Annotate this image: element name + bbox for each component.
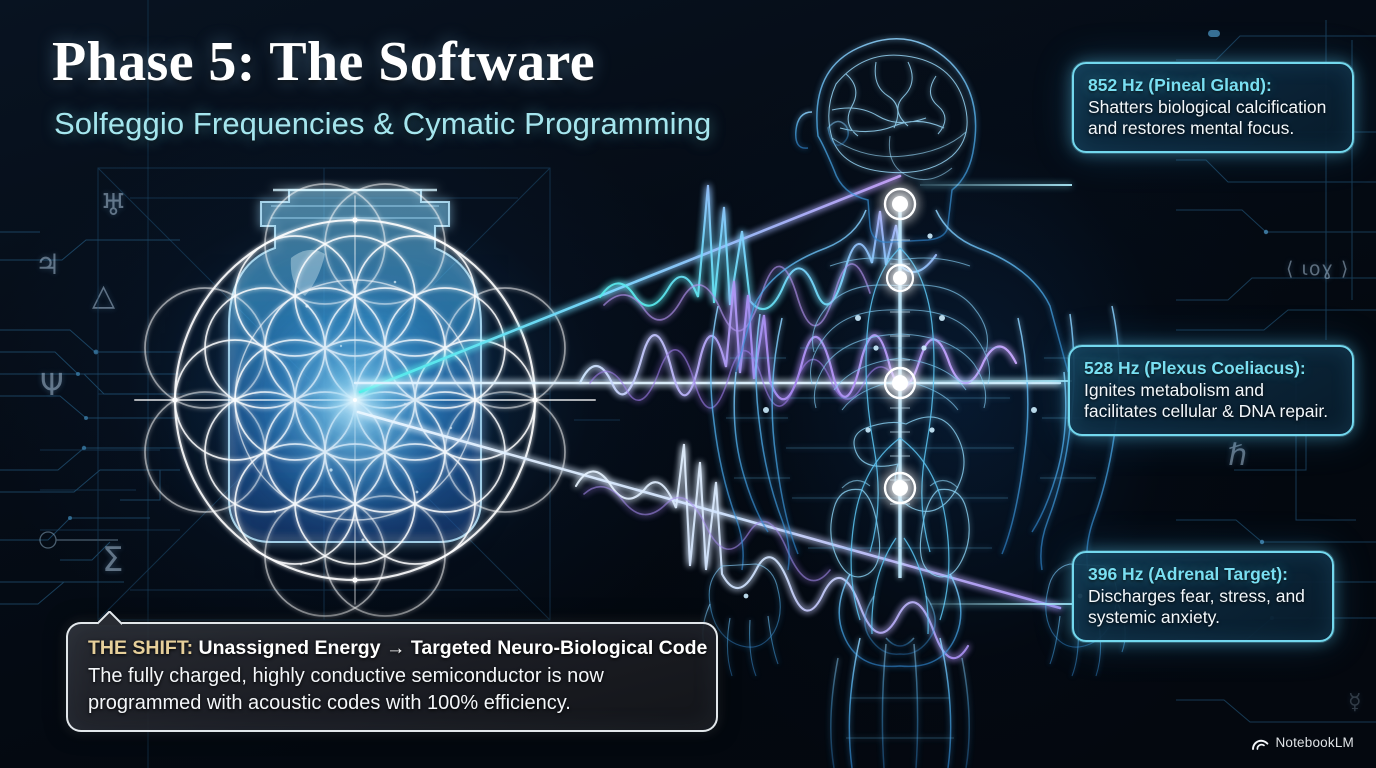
glyph-saturn: ℏ xyxy=(1228,438,1247,473)
leader-line-plexus xyxy=(920,380,1072,382)
notebooklm-arc-icon xyxy=(1252,736,1269,750)
charged-jar-orb xyxy=(95,140,615,640)
core-starburst xyxy=(95,140,615,640)
core-light-point xyxy=(353,398,357,402)
callout-body: Ignites metabolism and facilitates cellu… xyxy=(1084,380,1338,423)
callout-heading: 528 Hz (Plexus Coeliacus): xyxy=(1084,358,1338,379)
shift-headline-row: THE SHIFT: Unassigned Energy → Targeted … xyxy=(88,636,698,660)
shift-headline: Unassigned Energy → Targeted Neuro-Biolo… xyxy=(199,637,708,659)
glyph-braket: ⟨ ιοɣ ⟩ xyxy=(1286,258,1349,280)
callout-card-adrenal[interactable]: 396 Hz (Adrenal Target): Discharges fear… xyxy=(1072,551,1334,642)
callout-heading: 852 Hz (Pineal Gland): xyxy=(1088,75,1338,96)
leader-line-pineal xyxy=(920,184,1072,186)
page-subtitle: Solfeggio Frequencies & Cymatic Programm… xyxy=(54,106,711,142)
callout-body: Discharges fear, stress, and systemic an… xyxy=(1088,586,1318,629)
callout-card-pineal[interactable]: 852 Hz (Pineal Gland): Shatters biologic… xyxy=(1072,62,1354,153)
callout-heading: 396 Hz (Adrenal Target): xyxy=(1088,564,1318,585)
callout-body: Shatters biological calcification and re… xyxy=(1088,97,1338,140)
glyph-mercury: ☿ xyxy=(1348,690,1362,715)
the-shift-banner[interactable]: THE SHIFT: Unassigned Energy → Targeted … xyxy=(66,622,718,732)
leader-line-adrenal xyxy=(930,603,1072,605)
watermark: NotebookLM xyxy=(1252,735,1354,750)
shift-body: The fully charged, highly conductive sem… xyxy=(88,663,698,716)
shift-tag-label: THE SHIFT: xyxy=(88,637,193,659)
human-nervous-system-wireframe xyxy=(700,18,1130,768)
callout-card-plexus[interactable]: 528 Hz (Plexus Coeliacus): Ignites metab… xyxy=(1068,345,1354,436)
banner-pointer xyxy=(98,611,122,625)
page-title: Phase 5: The Software xyxy=(52,30,595,94)
watermark-label: NotebookLM xyxy=(1275,735,1354,750)
infographic-canvas: ♅ ♃ △ Ψ Σ ⟨ ιοɣ ⟩ ℏ ☿ xyxy=(0,0,1376,768)
